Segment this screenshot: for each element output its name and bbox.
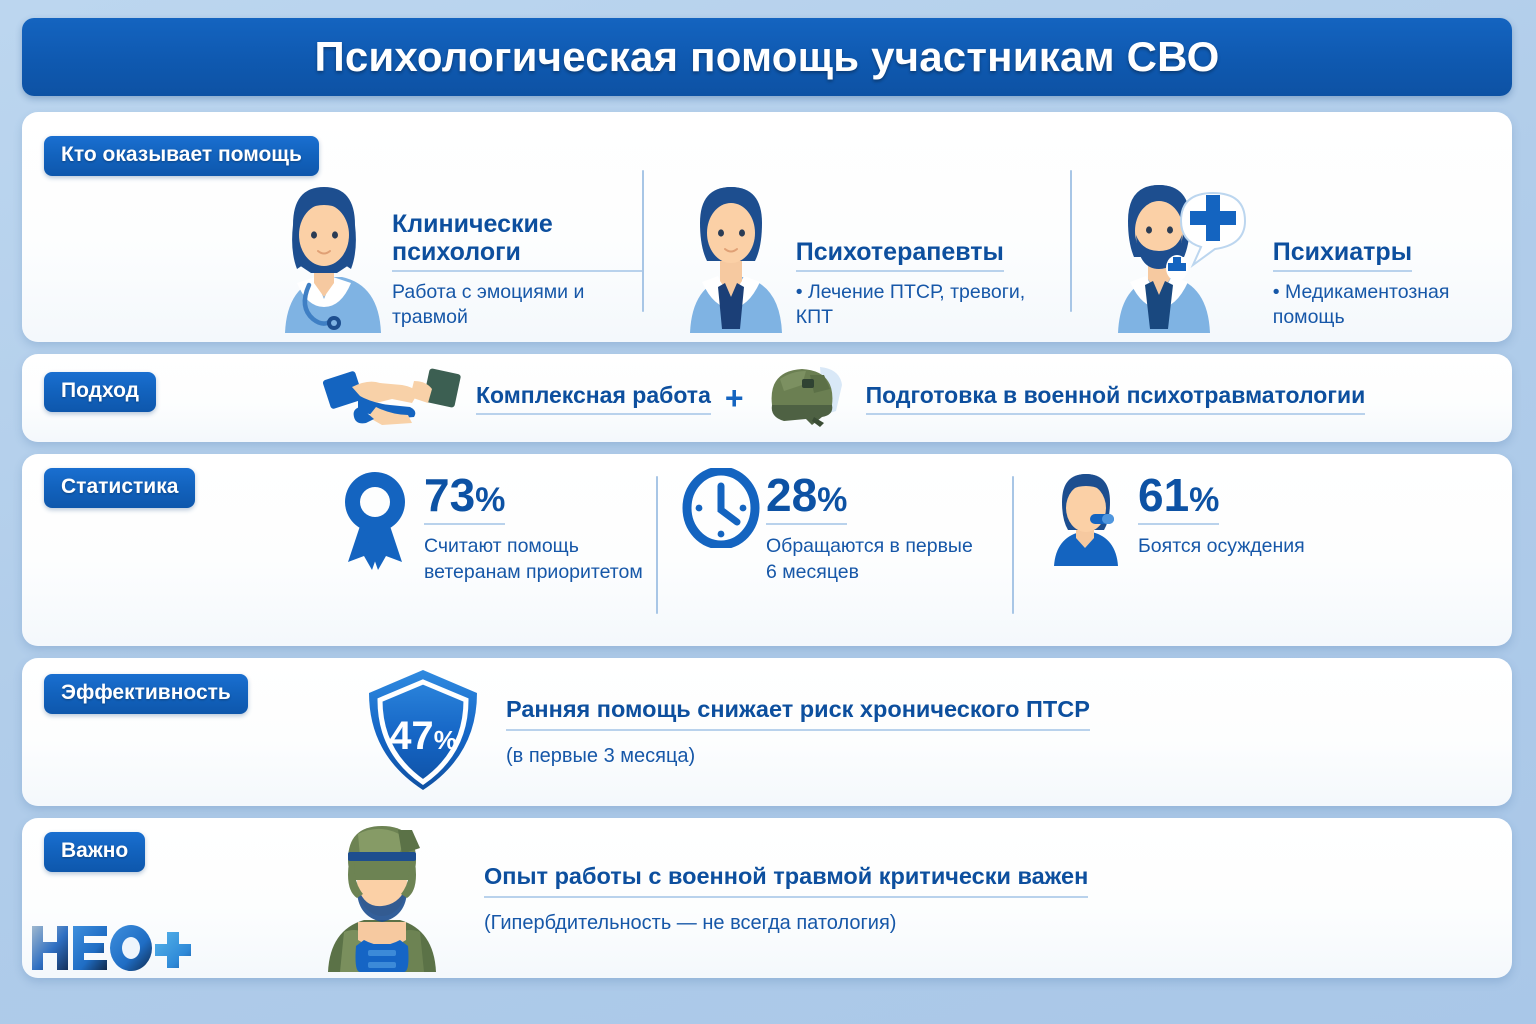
male-psychotherapist-avatar-icon <box>666 173 796 338</box>
provider-title: Психиатры <box>1273 238 1412 272</box>
shield-icon: 47% <box>362 667 484 798</box>
column-divider <box>1070 170 1072 312</box>
provider-item-psychiatrists: Психиатры • Медикаментозная помощь <box>1070 158 1517 338</box>
provider-desc: • Медикаментозная помощь <box>1273 280 1517 330</box>
effectiveness-text-block: Ранняя помощь снижает риск хронического … <box>506 696 1090 768</box>
soldier-avatar-icon <box>302 822 462 977</box>
column-divider <box>656 476 658 614</box>
column-divider <box>642 170 644 312</box>
stat-desc: Считают помощь ветеранам приоритетом <box>424 534 649 585</box>
provider-title: Клинические психологи <box>392 210 642 272</box>
bearded-psychiatrist-avatar-icon <box>1094 173 1279 338</box>
female-clinical-psychologist-avatar-icon <box>257 173 392 338</box>
section-badge-approach: Подход <box>44 372 156 412</box>
section-card-statistics: Статистика 73% Считают помощь ветеранам … <box>22 454 1512 646</box>
stat-item-priority: 73% Считают помощь ветеранам приоритетом <box>322 468 656 633</box>
stat-item-first-six-months: 28% Обращаются в первые 6 месяцев <box>656 468 1012 633</box>
page-title-bar: Психологическая помощь участникам СВО <box>22 18 1512 96</box>
section-card-approach: Подход Комплексная работа + <box>22 354 1512 442</box>
providers-row: Клинические психологи Работа с эмоциями … <box>237 158 1517 338</box>
handshake-icon <box>322 365 462 432</box>
approach-right-label: Подготовка в военной психотравматологии <box>866 382 1366 415</box>
section-badge-effectiveness: Эффективность <box>44 674 248 714</box>
neo-plus-logo <box>28 920 198 976</box>
provider-item-clinical-psychologists: Клинические психологи Работа с эмоциями … <box>237 158 642 338</box>
stat-value: 61% <box>1138 472 1219 525</box>
infographic-page: Психологическая помощь участникам СВО Кт… <box>0 0 1536 1024</box>
stat-value: 28% <box>766 472 847 525</box>
approach-row: Комплексная работа + Подготовка в военно… <box>322 364 1365 432</box>
stat-text-block: 28% Обращаются в первые 6 месяцев <box>766 468 976 585</box>
important-main-text: Опыт работы с военной травмой критически… <box>484 863 1088 898</box>
effectiveness-sub-text: (в первые 3 месяца) <box>506 745 1090 768</box>
person-headset-icon <box>1038 468 1134 571</box>
statistics-row: 73% Считают помощь ветеранам приоритетом <box>322 468 1502 633</box>
page-title: Психологическая помощь участникам СВО <box>314 33 1219 81</box>
stat-text-block: 73% Считают помощь ветеранам приоритетом <box>424 468 649 585</box>
stat-value: 73% <box>424 472 505 525</box>
provider-text-block: Психиатры • Медикаментозная помощь <box>1273 238 1517 338</box>
provider-title: Психотерапевты <box>796 238 1004 272</box>
section-card-important: Важно <box>22 818 1512 978</box>
section-badge-statistics: Статистика <box>44 468 195 508</box>
stat-text-block: 61% Боятся осуждения <box>1138 468 1305 560</box>
provider-text-block: Клинические психологи Работа с эмоциями … <box>392 210 642 338</box>
column-divider <box>1012 476 1014 614</box>
important-text-block: Опыт работы с военной травмой критически… <box>484 863 1088 935</box>
provider-desc: • Лечение ПТСР, тревоги, КПТ <box>796 280 1056 330</box>
stat-desc: Боятся осуждения <box>1138 534 1305 560</box>
military-helmet-icon <box>758 365 854 432</box>
important-row: Опыт работы с военной травмой критически… <box>302 824 1088 974</box>
award-ribbon-icon <box>336 468 414 577</box>
section-card-providers: Кто оказывает помощь <box>22 112 1512 342</box>
section-card-effectiveness: Эффективность 47% Ранн <box>22 658 1512 806</box>
approach-left-label: Комплексная работа <box>476 382 711 415</box>
stat-item-fear-of-judgement: 61% Боятся осуждения <box>1012 468 1398 633</box>
important-sub-text: (Гипербдительность — не всегда патология… <box>484 912 1088 935</box>
clock-icon <box>682 468 760 553</box>
section-badge-important: Важно <box>44 832 145 872</box>
provider-item-psychotherapists: Психотерапевты • Лечение ПТСР, тревоги, … <box>642 158 1070 338</box>
plus-sign: + <box>725 382 744 414</box>
effectiveness-main-text: Ранняя помощь снижает риск хронического … <box>506 696 1090 731</box>
provider-desc: Работа с эмоциями и травмой <box>392 280 642 330</box>
effectiveness-row: 47% Ранняя помощь снижает риск хроническ… <box>362 668 1090 796</box>
stat-desc: Обращаются в первые 6 месяцев <box>766 534 976 585</box>
provider-text-block: Психотерапевты • Лечение ПТСР, тревоги, … <box>796 238 1056 338</box>
